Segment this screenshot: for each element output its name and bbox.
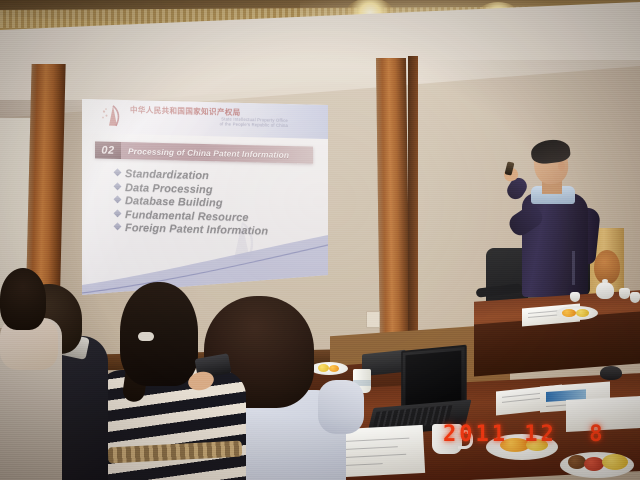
wall-socket bbox=[366, 311, 380, 328]
slide-title-text: Processing of China Patent Information bbox=[128, 146, 289, 160]
diamond-bullet-icon bbox=[114, 209, 122, 217]
fruit-plate-right bbox=[556, 306, 598, 320]
fruit-plate-far-right bbox=[560, 452, 634, 478]
presenter-ear bbox=[558, 161, 565, 171]
slide-logo-header: 中华人民共和国国家知识产权局 State Intellectual Proper… bbox=[82, 99, 328, 139]
diamond-bullet-icon bbox=[114, 182, 122, 190]
teapot bbox=[596, 282, 614, 299]
fruit-plate-center bbox=[310, 362, 348, 375]
wood-pillar-center bbox=[376, 58, 410, 350]
sipo-logo-icon bbox=[100, 103, 126, 130]
projection-screen: 中华人民共和国国家知识产权局 State Intellectual Proper… bbox=[82, 99, 328, 295]
slide-section-number: 02 bbox=[95, 141, 121, 159]
sweater-zipper bbox=[572, 251, 575, 285]
slide-title-bar: 02 Processing of China Patent Informatio… bbox=[95, 141, 313, 163]
bullet-label: Standardization bbox=[125, 168, 209, 182]
computer-mouse bbox=[600, 366, 622, 380]
diamond-bullet-icon bbox=[114, 168, 122, 176]
tea-cup-2 bbox=[570, 292, 580, 302]
photograph-conference-presentation: 中华人民共和国国家知识产权局 State Intellectual Proper… bbox=[0, 0, 640, 480]
camera-date-stamp: 2011 12 8 bbox=[443, 422, 605, 447]
slide-title-text-container: Processing of China Patent Information bbox=[121, 142, 313, 164]
bullet-label: Database Building bbox=[125, 195, 223, 209]
wood-pillar-center-edge bbox=[408, 56, 418, 348]
sipo-logo-text: 中华人民共和国国家知识产权局 State Intellectual Proper… bbox=[130, 105, 310, 129]
diamond-bullet-icon bbox=[114, 195, 122, 203]
bullet-label: Data Processing bbox=[125, 182, 213, 196]
tea-cup-1 bbox=[619, 288, 630, 299]
tea-cup-3 bbox=[630, 292, 640, 303]
hair-tie bbox=[138, 332, 154, 341]
